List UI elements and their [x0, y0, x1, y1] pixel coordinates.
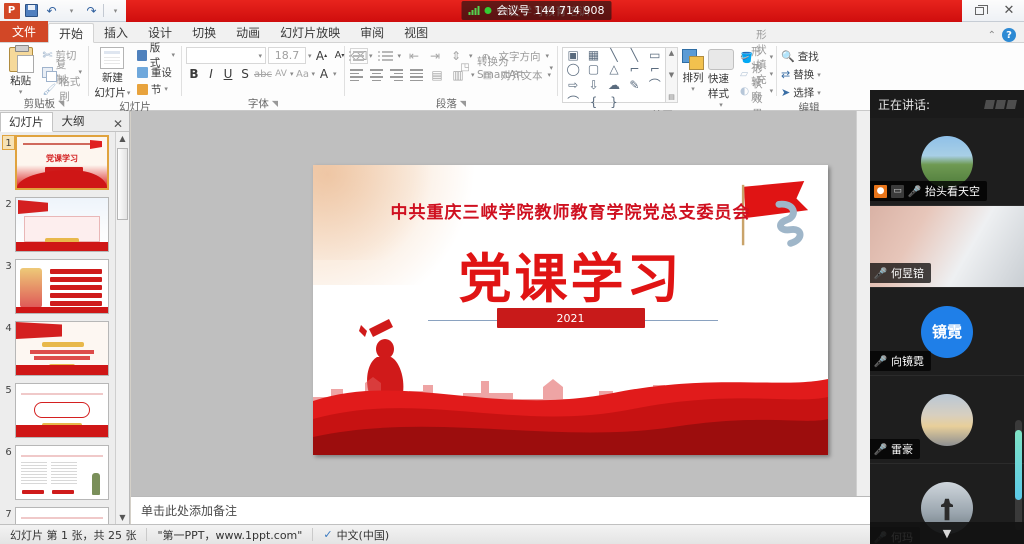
tab-view[interactable]: 视图: [394, 22, 438, 42]
character-spacing-button[interactable]: AV: [273, 66, 289, 82]
slide-number: 6: [2, 445, 15, 458]
replace-icon: ⇄: [781, 68, 790, 81]
slides-panel-tabs: 幻灯片 大纲 ✕: [0, 111, 129, 132]
slide-thumbnail-3[interactable]: 3: [2, 259, 113, 316]
cloud-shape-icon[interactable]: ☁: [604, 76, 624, 93]
align-center-icon[interactable]: [369, 68, 384, 82]
paragraph-group-label: 段落 ◥: [349, 97, 553, 110]
triangle-shape-icon[interactable]: △: [604, 62, 624, 76]
gallery-scroll-up-icon[interactable]: ▲: [669, 49, 674, 57]
shape-outline-icon: ▱: [740, 68, 748, 80]
person-icon: ●: [874, 185, 887, 198]
layout-icon: [137, 50, 147, 61]
ribbon-group-editing: 🔍 查找 ⇄ 替换 ▾ ➤ 选择 ▾ 编辑: [777, 43, 841, 110]
participant-name: 向镜霓: [891, 353, 924, 369]
slide-number: 3: [2, 259, 15, 272]
select-label: 选择: [793, 85, 814, 100]
font-group-text: 字体: [248, 96, 269, 111]
replace-label: 替换: [793, 67, 814, 82]
shape-outline-dropdown-icon[interactable]: ▾: [770, 70, 774, 78]
avatar: 镜霓: [921, 306, 973, 358]
distribute-icon[interactable]: ▤: [429, 67, 445, 83]
left-brace-shape-icon[interactable]: {: [583, 93, 603, 110]
right-brace-shape-icon[interactable]: }: [604, 93, 624, 110]
paragraph-dialog-launcher-icon[interactable]: ◥: [460, 99, 466, 108]
signal-strength-icon: [469, 6, 480, 15]
slide-editing-stage[interactable]: 中共重庆三峡学院教师教育学院党总支委员会 党课学习 2021: [131, 111, 870, 524]
slide-thumbnail-image: [15, 197, 109, 252]
microphone-muted-icon: 🎤: [874, 443, 887, 456]
scrollbar-thumb[interactable]: [117, 148, 128, 220]
section-label: 节: [151, 82, 162, 97]
new-slide-button[interactable]: 新建 幻灯片 ▾: [93, 45, 132, 100]
current-slide[interactable]: 中共重庆三峡学院教师教育学院党总支委员会 党课学习 2021: [313, 165, 828, 455]
shape-effects-icon: ◐: [740, 85, 749, 97]
format-painter-button[interactable]: 🖌 格式刷: [40, 81, 84, 97]
slide-number: 2: [2, 197, 15, 210]
arc-shape-icon[interactable]: ⌒: [563, 93, 583, 110]
tab-insert[interactable]: 插入: [94, 22, 138, 42]
font-color-dropdown-icon[interactable]: ▾: [333, 70, 337, 78]
scroll-up-icon[interactable]: ▲: [119, 132, 125, 145]
stage-vertical-scrollbar[interactable]: [856, 111, 870, 524]
slides-commands: 版式 ▾ 重设 节 ▾: [135, 45, 177, 97]
layout-button[interactable]: 版式 ▾: [135, 47, 177, 63]
avatar: [921, 136, 973, 188]
new-slide-dropdown-icon[interactable]: ▾: [127, 89, 131, 97]
picture-shape-icon[interactable]: ▦: [583, 48, 603, 62]
tab-design[interactable]: 设计: [138, 22, 182, 42]
tab-home[interactable]: 开始: [48, 23, 94, 43]
shape-effects-button[interactable]: ◐ 形状效果 ▾: [738, 83, 775, 99]
line-arrow-shape-icon[interactable]: ╲: [624, 48, 644, 62]
participant-name: 雷豪: [891, 441, 913, 457]
slides-panel: 幻灯片 大纲 ✕ 1 党课学习 2: [0, 111, 130, 524]
participant-name-badge: 🎤 何昱锫: [870, 263, 931, 283]
gallery-scroll-down-icon[interactable]: ▼: [669, 71, 674, 79]
font-group-label: 字体 ◥: [186, 97, 340, 110]
language-label: 中文(中国): [337, 527, 390, 543]
slide-thumbnail-image: [15, 445, 109, 500]
cursor-icon: ➤: [781, 86, 790, 99]
connection-status-icon: [485, 7, 492, 14]
save-icon[interactable]: [23, 2, 40, 19]
decrease-indent-icon[interactable]: ⇤: [406, 48, 422, 64]
numbered-list-dropdown-icon[interactable]: ▾: [398, 52, 402, 60]
meeting-label: 会议号: [497, 2, 530, 18]
window-title-area: 四史学习教育培训 会议号 144 714 908: [126, 0, 962, 22]
quick-styles-label: 快速样式: [708, 71, 734, 101]
red-wave-decoration: [313, 345, 828, 455]
layout-dropdown-icon[interactable]: ▾: [171, 51, 175, 59]
slide-organization-line[interactable]: 中共重庆三峡学院教师教育学院党总支委员会: [313, 198, 828, 223]
speaking-now-label: 正在讲话:: [878, 96, 930, 113]
underline-button[interactable]: U: [220, 66, 236, 82]
microphone-muted-icon: 🎤: [874, 355, 887, 368]
slide-thumbnail-4[interactable]: 4: [2, 321, 113, 378]
tab-slides-thumbnails[interactable]: 幻灯片: [0, 112, 53, 132]
participant-name-badge: ● ▭ 🎤 抬头看天空: [870, 181, 987, 201]
oval-shape-icon[interactable]: ◯: [563, 62, 583, 76]
text-shadow-button[interactable]: S: [237, 66, 253, 82]
avatar: [921, 394, 973, 446]
bold-button[interactable]: B: [186, 66, 202, 82]
find-label: 查找: [798, 49, 819, 64]
replace-button[interactable]: ⇄ 替换 ▾: [781, 66, 821, 83]
clipboard-commands: ✄ 剪切 复制 ▾ 🖌 格式刷: [40, 45, 84, 97]
slide-thumbnail-image: [15, 383, 109, 438]
quick-styles-dropdown-icon[interactable]: ▾: [719, 101, 723, 109]
participant-name: 抬头看天空: [925, 183, 980, 199]
section-icon: [137, 84, 148, 95]
tab-animations[interactable]: 动画: [226, 22, 270, 42]
slide-year-badge[interactable]: 2021: [497, 308, 645, 328]
textbox-shape-icon[interactable]: ▣: [563, 48, 583, 62]
screen-share-icon: ▭: [891, 185, 904, 198]
font-name-input[interactable]: ▾: [186, 47, 266, 64]
participant-tile-2[interactable]: 🎤 何昱锫: [870, 206, 1024, 288]
section-button[interactable]: 节 ▾: [135, 81, 177, 97]
line-shape-icon[interactable]: ╲: [604, 48, 624, 62]
ribbon-group-drawing: ▣ ▦ ╲ ╲ ▭ ◯ ▢ △ ⌐ ⌐ ⇨ ⇩ ☁ ✎ ⌒: [558, 43, 776, 110]
font-size-input[interactable]: 18.7: [268, 47, 306, 64]
select-dropdown-icon[interactable]: ▾: [817, 89, 821, 97]
clipboard-group-label: 剪贴板 ◥: [4, 97, 84, 110]
participant-tile-3[interactable]: 镜霓 🎤 向镜霓: [870, 288, 1024, 376]
quick-styles-button[interactable]: 快速样式 ▾: [708, 47, 734, 109]
powerpoint-app-icon[interactable]: P: [3, 2, 20, 19]
slide-count-status: 幻灯片 第 1 张，共 25 张: [0, 527, 146, 543]
font-color-button[interactable]: A: [316, 66, 332, 82]
scroll-down-button[interactable]: ▼: [870, 522, 1024, 544]
reset-label: 重设: [151, 65, 172, 80]
scroll-down-icon[interactable]: ▼: [119, 511, 125, 524]
bullet-list-icon[interactable]: [349, 51, 364, 61]
align-left-icon[interactable]: [349, 68, 364, 82]
paragraph-group-text: 段落: [436, 96, 457, 111]
slide-number: 7: [2, 507, 15, 520]
slide-thumbnail-image: [15, 259, 109, 314]
customize-qat-icon[interactable]: ▾: [107, 2, 124, 19]
arrange-dropdown-icon[interactable]: ▾: [691, 85, 695, 93]
redo-icon[interactable]: ↷: [83, 2, 100, 19]
slide-thumbnail-5[interactable]: 5: [2, 383, 113, 440]
participant-name-badge: 🎤 雷豪: [870, 439, 920, 459]
align-right-icon[interactable]: [389, 68, 404, 82]
slide-number: 4: [2, 321, 15, 334]
meeting-id: 144 714 908: [535, 4, 605, 17]
ribbon-group-font: ▾ 18.7 ▾ A▴ A▾ ⌫ B I U S abc AV: [182, 43, 344, 110]
paste-icon: [9, 47, 33, 72]
restore-button[interactable]: [964, 0, 994, 21]
close-button[interactable]: ✕: [994, 0, 1024, 21]
scissors-icon: ✄: [42, 48, 52, 62]
curve-shape-icon[interactable]: ⌒: [645, 76, 665, 93]
font-row-2: B I U S abc AV ▾ Aa ▾ A ▾: [186, 66, 337, 82]
clipboard-group-text: 剪贴板: [24, 96, 56, 111]
replace-dropdown-icon[interactable]: ▾: [817, 71, 821, 79]
undo-dropdown-icon[interactable]: ▾: [63, 2, 80, 19]
new-slide-icon: [100, 47, 124, 69]
slide-thumbnail-6[interactable]: 6: [2, 445, 113, 502]
reset-icon: [137, 67, 148, 78]
change-case-dropdown-icon[interactable]: ▾: [312, 70, 316, 78]
paste-dropdown-icon[interactable]: ▾: [19, 88, 23, 96]
down-arrow-shape-icon[interactable]: ⇩: [583, 76, 603, 93]
right-arrow-shape-icon[interactable]: ⇨: [563, 76, 583, 93]
arrange-button[interactable]: 排列 ▾: [682, 47, 704, 93]
strikethrough-button[interactable]: abc: [254, 66, 272, 82]
collapse-ribbon-icon[interactable]: ⌃: [988, 30, 996, 41]
convert-smartart-label[interactable]: 转换为 SmartArt: [477, 54, 545, 81]
tab-review[interactable]: 审阅: [350, 22, 394, 42]
slide-thumbnail-1[interactable]: 1 党课学习: [2, 135, 113, 192]
meeting-video-panel[interactable]: 正在讲话: ● ▭ 🎤 抬头看天空 🎤 何昱锫 镜霓 🎤 向镜霓: [870, 90, 1024, 544]
font-row-1: ▾ 18.7 ▾ A▴ A▾ ⌫: [186, 47, 368, 64]
italic-button[interactable]: I: [203, 66, 219, 82]
character-spacing-dropdown-icon[interactable]: ▾: [290, 70, 294, 78]
theme-status[interactable]: "第一PPT，www.1ppt.com": [147, 527, 312, 543]
smartart-dropdown-icon[interactable]: ▾: [549, 64, 553, 72]
slide-main-title[interactable]: 党课学习: [313, 237, 828, 313]
rectangle-shape-icon[interactable]: ▭: [645, 48, 665, 62]
font-size-value: 18.7: [275, 49, 300, 62]
window-controls: ✕: [964, 0, 1024, 22]
meeting-id-badge[interactable]: 会议号 144 714 908: [462, 1, 612, 20]
paste-button[interactable]: 粘贴 ▾: [4, 45, 37, 96]
slide-number: 1: [2, 135, 15, 150]
quick-access-toolbar: P ↶ ▾ ↷ ▾: [0, 1, 124, 21]
shape-fill-dropdown-icon[interactable]: ▾: [770, 53, 774, 61]
clipboard-dialog-launcher-icon[interactable]: ◥: [58, 99, 64, 108]
binoculars-icon: 🔍: [781, 50, 795, 63]
brush-icon: 🖌: [42, 83, 56, 96]
participant-name: 何昱锫: [891, 265, 924, 281]
slides-panel-scrollbar[interactable]: ▲ ▼: [115, 132, 129, 524]
elbow-arrow-icon[interactable]: ⌐: [645, 62, 665, 76]
find-button[interactable]: 🔍 查找: [781, 48, 819, 65]
new-slide-label-2: 幻灯片: [94, 85, 126, 100]
slide-thumbnail-7[interactable]: 7: [2, 507, 113, 524]
increase-font-size-icon[interactable]: A▴: [314, 48, 330, 64]
slide-number: 5: [2, 383, 15, 396]
powerpoint-window: P ↶ ▾ ↷ ▾ 四史学习教育培训 会议号 144 714 908 ✕ 文件 …: [0, 0, 1024, 544]
font-name-dropdown-icon[interactable]: ▾: [258, 52, 262, 60]
spellcheck-icon: ✓: [323, 528, 332, 541]
reset-button[interactable]: 重设: [135, 64, 177, 80]
ribbon-group-clipboard: 粘贴 ▾ ✄ 剪切 复制 ▾ 🖌 格式刷: [0, 43, 88, 110]
ribbon-group-paragraph: ▾ ▾ ⇤ ⇥ ⇕ ▾ ⫙ 文字方向 ▾ ▤ ▥: [345, 43, 557, 110]
numbered-list-icon[interactable]: [378, 51, 393, 61]
shape-format-commands: 🪣 形状填充 ▾ ▱ 形状轮廓 ▾ ◐ 形状效果 ▾: [738, 47, 775, 99]
quick-styles-icon: [708, 49, 734, 70]
close-panel-icon[interactable]: ✕: [113, 117, 129, 131]
gallery-more-icon[interactable]: ▤: [668, 93, 675, 101]
arrange-icon: [682, 49, 704, 69]
slide-thumbnail-list[interactable]: 1 党课学习 2: [0, 132, 115, 524]
tab-outline[interactable]: 大纲: [53, 111, 94, 131]
elbow-connector-icon[interactable]: ⌐: [624, 62, 644, 76]
new-slide-label-1: 新建: [102, 70, 123, 85]
shapes-gallery-scrollbar[interactable]: ▲ ▼ ▤: [666, 47, 678, 103]
slide-thumbnail-image: [15, 507, 109, 524]
undo-icon[interactable]: ↶: [43, 2, 60, 19]
tab-slideshow[interactable]: 幻灯片放映: [270, 22, 350, 42]
arrange-label: 排列: [683, 70, 704, 85]
microphone-muted-icon: 🎤: [874, 267, 887, 280]
bullet-list-dropdown-icon[interactable]: ▾: [369, 52, 373, 60]
select-button[interactable]: ➤ 选择 ▾: [781, 84, 821, 101]
tab-transitions[interactable]: 切换: [182, 22, 226, 42]
slide-thumbnail-image: 党课学习: [15, 135, 109, 190]
help-icon[interactable]: ?: [1002, 28, 1016, 42]
paste-label: 粘贴: [10, 73, 31, 88]
qat-divider: [103, 4, 104, 17]
shape-effects-dropdown-icon[interactable]: ▾: [770, 87, 774, 95]
shapes-gallery[interactable]: ▣ ▦ ╲ ╲ ▭ ◯ ▢ △ ⌐ ⌐ ⇨ ⇩ ☁ ✎ ⌒: [562, 47, 666, 103]
participant-tile-1[interactable]: ● ▭ 🎤 抬头看天空: [870, 118, 1024, 206]
tab-file[interactable]: 文件: [0, 21, 48, 42]
meeting-panel-scrollbar[interactable]: [1015, 420, 1022, 530]
meeting-panel-header: 正在讲话:: [870, 90, 1024, 118]
meeting-app-logo-icon: [985, 100, 1016, 109]
slide-thumbnail-2[interactable]: 2: [2, 197, 113, 254]
participant-tile-4[interactable]: 🎤 雷豪: [870, 376, 1024, 464]
notes-pane[interactable]: 单击此处添加备注: [131, 496, 870, 524]
justify-icon[interactable]: [409, 68, 424, 82]
increase-indent-icon[interactable]: ⇥: [427, 48, 443, 64]
slide-thumbnail-image: [15, 321, 109, 376]
language-status[interactable]: ✓ 中文(中国): [313, 527, 399, 543]
microphone-icon: 🎤: [908, 185, 921, 198]
rounded-rect-shape-icon[interactable]: ▢: [583, 62, 603, 76]
change-case-button[interactable]: Aa: [295, 66, 311, 82]
freeform-shape-icon[interactable]: ✎: [624, 76, 644, 93]
font-dialog-launcher-icon[interactable]: ◥: [272, 99, 278, 108]
smartart-icon: ◳: [457, 60, 473, 76]
copy-icon: [42, 67, 52, 78]
font-size-dropdown-icon[interactable]: ▾: [308, 52, 312, 60]
participant-name-badge: 🎤 向镜霓: [870, 351, 931, 371]
ribbon-tab-bar-right: ⌃ ?: [988, 28, 1024, 42]
section-dropdown-icon[interactable]: ▾: [164, 85, 168, 93]
title-bar: P ↶ ▾ ↷ ▾ 四史学习教育培训 会议号 144 714 908 ✕: [0, 0, 1024, 22]
ribbon-group-slides: 新建 幻灯片 ▾ 版式 ▾ 重设: [89, 43, 181, 110]
